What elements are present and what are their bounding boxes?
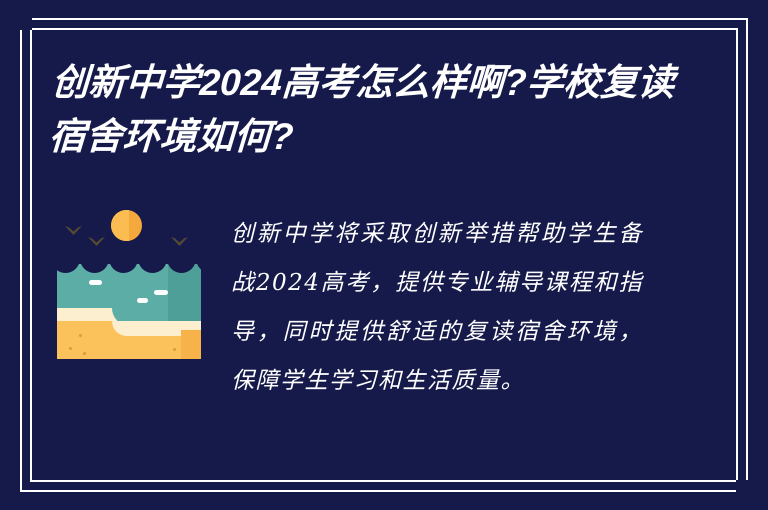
foam-dash-3: [137, 298, 148, 303]
sand-grain: [83, 352, 86, 355]
article-banner-card: 创新中学2024高考怎么样啊?学校复读宿舍环境如何?: [0, 0, 768, 510]
sand-grain: [173, 348, 176, 351]
sand-shadow: [181, 330, 201, 359]
sand-grain: [79, 334, 82, 337]
foam-dash-1: [89, 280, 102, 285]
night-beach-illustration: [57, 204, 201, 359]
sand-grain: [69, 347, 72, 350]
sun-highlight: [111, 210, 129, 241]
frame-notch-bottom-right: [736, 480, 750, 494]
article-body-text: 创新中学将采取创新举措帮助学生备战2024高考，提供专业辅导课程和指导，同时提供…: [231, 210, 643, 406]
page-title: 创新中学2024高考怎么样啊?学校复读宿舍环境如何?: [47, 56, 693, 164]
frame-notch-top-left: [18, 16, 32, 30]
foam-dash-2: [154, 290, 168, 295]
